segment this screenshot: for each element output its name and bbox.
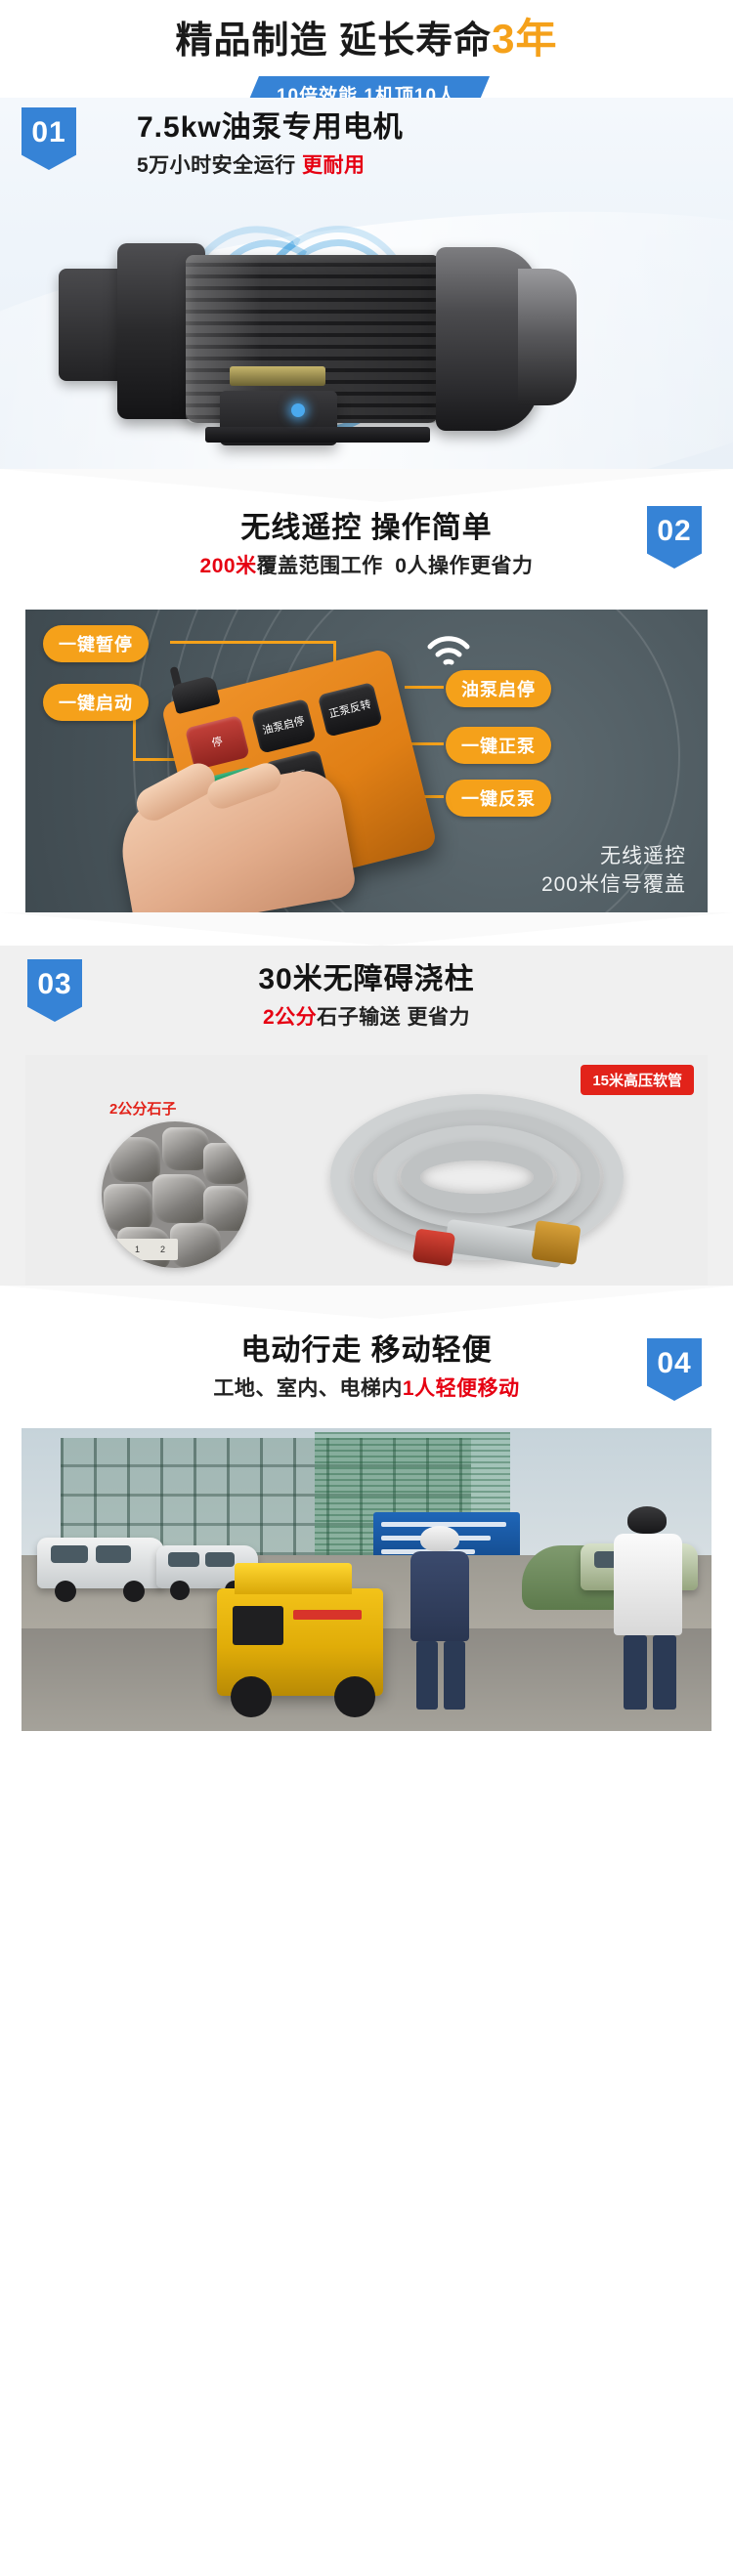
machine-control-panel bbox=[233, 1606, 283, 1645]
remote-label-pump-forward: 一键正泵 bbox=[446, 727, 551, 764]
parked-van bbox=[37, 1538, 164, 1588]
section-04-sub-left: 工地、室内、电梯内 bbox=[213, 1377, 403, 1400]
remote-label-pump-toggle: 油泵启停 bbox=[446, 670, 551, 707]
motor-image bbox=[0, 186, 733, 469]
section-04-title: 电动行走 移动轻便 bbox=[0, 1334, 733, 1369]
section-mobility: 电动行走 移动轻便 工地、室内、电梯内1人轻便移动 04 bbox=[0, 1319, 733, 1731]
page-title: 精品制造 延长寿命3年 bbox=[0, 6, 733, 65]
motor-base-foot bbox=[205, 427, 430, 443]
vehicle-wheel bbox=[55, 1581, 76, 1602]
section-04-sub-highlight: 1人轻便移动 bbox=[403, 1377, 520, 1400]
remote-button[interactable]: 停 bbox=[185, 715, 250, 771]
gravel-stone bbox=[104, 1184, 152, 1231]
machine-wheel bbox=[231, 1676, 272, 1717]
section-03-title: 30米无障碍浇柱 bbox=[0, 963, 733, 997]
worker-leg bbox=[444, 1641, 465, 1710]
section-04-text: 电动行走 移动轻便 工地、室内、电梯内1人轻便移动 bbox=[0, 1334, 733, 1402]
section-04-badge: 04 bbox=[647, 1338, 702, 1401]
section-01-sub-left: 5万小时安全运行 bbox=[137, 154, 296, 177]
section-04-subtitle: 工地、室内、电梯内1人轻便移动 bbox=[0, 1372, 733, 1402]
ruler-tick-2: 2 bbox=[160, 1245, 165, 1254]
hose-red-cuff bbox=[412, 1228, 455, 1266]
section-hose: 03 30米无障碍浇柱 2公分石子输送 更省力 15米高压软管 2公分石子 1 … bbox=[0, 946, 733, 1286]
worker-standing bbox=[610, 1506, 686, 1711]
section-02-title: 无线遥控 操作简单 bbox=[0, 512, 733, 546]
section-02-subtitle: 200米覆盖范围工作 0人操作更省力 bbox=[0, 550, 733, 579]
section-04-header: 电动行走 移动轻便 工地、室内、电梯内1人轻便移动 04 bbox=[0, 1319, 733, 1428]
section-03-subtitle: 2公分石子输送 更省力 bbox=[0, 1001, 733, 1031]
gravel-stone bbox=[152, 1174, 207, 1223]
vehicle-window bbox=[168, 1552, 199, 1567]
gravel-stone bbox=[203, 1143, 246, 1184]
hose-length-tag: 15米高压软管 bbox=[581, 1065, 694, 1095]
worker-leg bbox=[624, 1635, 647, 1710]
section-01-badge: 01 bbox=[22, 107, 76, 170]
hose-coil bbox=[401, 1141, 553, 1213]
vehicle-wheel bbox=[123, 1581, 145, 1602]
wifi-signal-icon bbox=[426, 635, 471, 670]
motor-fan-cover bbox=[518, 269, 577, 405]
section-02-sub-left: 覆盖范围工作 bbox=[257, 555, 383, 577]
section-02-text: 无线遥控 操作简单 200米覆盖范围工作 0人操作更省力 bbox=[0, 512, 733, 579]
section-01-title: 7.5kw油泵专用电机 bbox=[137, 111, 404, 146]
vehicle-window bbox=[96, 1545, 131, 1563]
hand-holding-remote bbox=[113, 765, 358, 912]
section-02-header: 无线遥控 操作简单 200米覆盖范围工作 0人操作更省力 02 bbox=[0, 502, 733, 610]
section-motor: 01 7.5kw油泵专用电机 5万小时安全运行 更耐用 bbox=[0, 98, 733, 469]
section-03-text: 30米无障碍浇柱 2公分石子输送 更省力 bbox=[0, 963, 733, 1031]
section-01-text: 7.5kw油泵专用电机 5万小时安全运行 更耐用 bbox=[137, 107, 404, 179]
ruler-tick-1: 1 bbox=[135, 1245, 140, 1254]
gravel-stone bbox=[109, 1137, 160, 1182]
section-02-badge-wrap: 02 bbox=[647, 506, 702, 569]
section-divider-arrow bbox=[0, 912, 733, 946]
remote-corner-note: 无线遥控 200米信号覆盖 bbox=[541, 843, 686, 899]
label-lead-line bbox=[170, 641, 336, 644]
electric-motor bbox=[59, 239, 645, 435]
section-03-header: 03 30米无障碍浇柱 2公分石子输送 更省力 bbox=[0, 946, 733, 1055]
machine-wheel bbox=[334, 1676, 375, 1717]
indicator-led-icon bbox=[291, 403, 305, 417]
remote-label-pause: 一键暂停 bbox=[43, 625, 149, 662]
corner-note-line1: 无线遥控 bbox=[541, 843, 686, 870]
gravel-stone bbox=[162, 1127, 209, 1170]
remote-label-start: 一键启动 bbox=[43, 684, 149, 721]
worker-pushing-machine bbox=[405, 1526, 475, 1711]
worker-head bbox=[627, 1506, 667, 1534]
machine-hopper bbox=[235, 1563, 352, 1594]
corner-note-line2: 200米信号覆盖 bbox=[541, 871, 686, 899]
vehicle-window bbox=[205, 1552, 235, 1567]
worker-leg bbox=[416, 1641, 438, 1710]
gravel-size-label: 2公分石子 bbox=[109, 1098, 176, 1119]
remote-label-pump-reverse: 一键反泵 bbox=[446, 780, 551, 817]
section-02-badge: 02 bbox=[647, 506, 702, 569]
hose-and-gravel-image: 15米高压软管 2公分石子 1 2 bbox=[25, 1055, 708, 1286]
label-lead-line bbox=[405, 686, 444, 689]
gravel-photo: 1 2 bbox=[102, 1121, 248, 1268]
worker-torso bbox=[410, 1551, 469, 1641]
remote-button[interactable]: 油泵启停 bbox=[251, 698, 317, 754]
machine-warning-stripe bbox=[293, 1610, 362, 1620]
hose-coupling bbox=[531, 1220, 581, 1265]
section-02-sub-highlight: 200米 bbox=[200, 555, 257, 577]
section-01-subtitle: 5万小时安全运行 更耐用 bbox=[137, 149, 404, 179]
section-01-sub-highlight: 更耐用 bbox=[302, 154, 366, 177]
vehicle-window bbox=[51, 1545, 88, 1563]
ruler-scale: 1 2 bbox=[109, 1239, 178, 1260]
remote-button[interactable]: 正泵反转 bbox=[318, 682, 383, 738]
jobsite-photo bbox=[22, 1428, 711, 1731]
page-title-highlight: 3年 bbox=[492, 16, 557, 62]
remote-control-image: 一键暂停 一键启动 油泵启停 一键正泵 一键反泵 停 油泵启停 正泵反转 动 反… bbox=[25, 610, 708, 912]
worker-torso bbox=[614, 1534, 682, 1635]
section-03-sub-highlight: 2公分 bbox=[263, 1006, 317, 1029]
section-divider-arrow bbox=[0, 1286, 733, 1319]
page-title-prefix: 精品制造 延长寿命 bbox=[176, 21, 493, 62]
section-divider-arrow bbox=[0, 469, 733, 502]
section-01-header: 01 7.5kw油泵专用电机 5万小时安全运行 更耐用 bbox=[22, 107, 404, 179]
page-header: 精品制造 延长寿命3年 10倍效能 1机顶10人 bbox=[0, 0, 733, 98]
section-03-sub-left: 石子输送 更省力 bbox=[317, 1006, 470, 1029]
vehicle-wheel bbox=[170, 1581, 190, 1600]
section-02-sub-right: 0人操作更省力 bbox=[395, 555, 533, 577]
motor-terminal-plate bbox=[230, 366, 325, 386]
worker-leg bbox=[653, 1635, 676, 1710]
safety-helmet bbox=[420, 1526, 459, 1551]
section-remote: 无线遥控 操作简单 200米覆盖范围工作 0人操作更省力 02 一键暂停 一键启… bbox=[0, 502, 733, 912]
section-04-badge-wrap: 04 bbox=[647, 1338, 702, 1401]
